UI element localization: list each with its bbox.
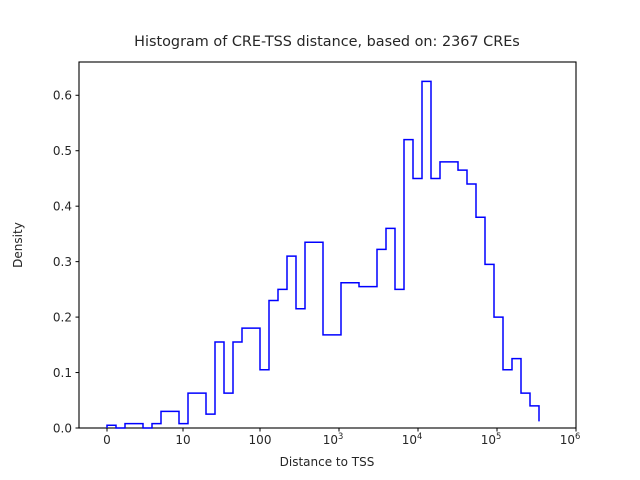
- page-title: Histogram of CRE-TSS distance, based on:…: [134, 34, 520, 50]
- histogram-plot: Histogram of CRE-TSS distance, based on:…: [0, 0, 640, 480]
- y-tick-label: 0.0: [53, 421, 72, 435]
- y-tick-label: 0.5: [53, 144, 72, 158]
- y-tick-label: 0.1: [53, 366, 72, 380]
- y-tick-label: 0.6: [53, 89, 72, 103]
- y-tick-label: 0.4: [53, 199, 72, 213]
- x-tick-label: 100: [249, 433, 272, 447]
- y-axis-label: Density: [11, 222, 25, 268]
- y-tick-label: 0.3: [53, 255, 72, 269]
- x-tick-label: 0: [103, 433, 111, 447]
- figure-background: [0, 0, 640, 480]
- x-tick-label: 10: [175, 433, 190, 447]
- figure-canvas: Histogram of CRE-TSS distance, based on:…: [0, 0, 640, 480]
- x-axis-label: Distance to TSS: [280, 455, 375, 469]
- y-tick-label: 0.2: [53, 310, 72, 324]
